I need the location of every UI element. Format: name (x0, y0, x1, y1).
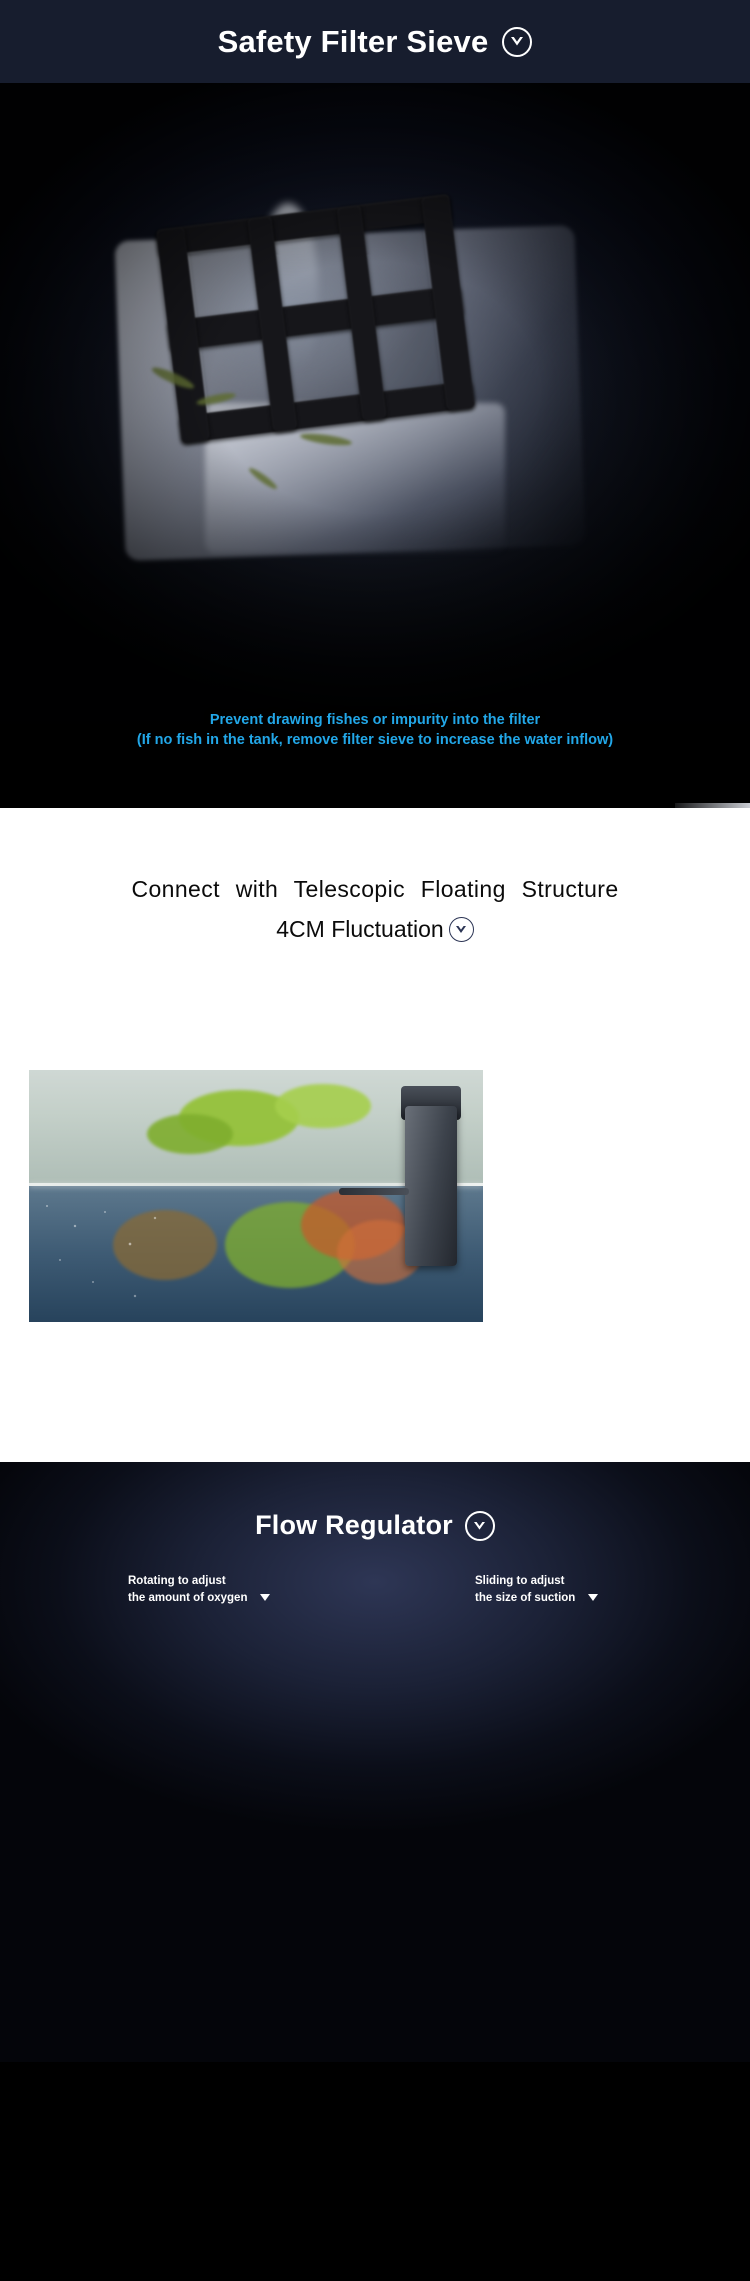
pump-intake-tube (339, 1188, 409, 1195)
annotation-oxygen-line-1: Rotating to adjust (128, 1573, 270, 1590)
sieve-caption: Prevent drawing fishes or impurity into … (0, 710, 750, 750)
section-telescopic-floating: Connect with Telescopic Floating Structu… (0, 808, 750, 1462)
annotation-oxygen-line-2: the amount of oxygen (128, 1592, 247, 1604)
flow-background-gradient (0, 1462, 750, 2062)
section-safety-filter-sieve: Safety Filter Sieve Prevent d (0, 0, 750, 808)
telescopic-heading-line-1: Connect with Telescopic Floating Structu… (0, 871, 750, 908)
sieve-title: Safety Filter Sieve (218, 26, 489, 57)
telescopic-heading-line-2-row: 4CM Fluctuation (0, 911, 750, 948)
telescopic-heading: Connect with Telescopic Floating Structu… (0, 808, 750, 948)
annotation-suction-line-1: Sliding to adjust (475, 1573, 598, 1590)
sieve-product-photo: Prevent drawing fishes or impurity into … (0, 83, 750, 808)
flow-title: Flow Regulator (255, 1510, 453, 1541)
product-detail-page: Safety Filter Sieve Prevent d (0, 0, 750, 2281)
telescopic-aquarium-photo (29, 1070, 483, 1322)
sieve-caption-line-2: (If no fish in the tank, remove filter s… (0, 730, 750, 750)
chevron-down-circle-icon (502, 27, 532, 57)
pump-housing (405, 1106, 457, 1266)
telescopic-heading-line-2: 4CM Fluctuation (276, 911, 443, 948)
annotation-oxygen-line-2-row: the amount of oxygen (128, 1590, 270, 1607)
annotation-oxygen: Rotating to adjust the amount of oxygen (128, 1573, 270, 1606)
annotation-suction-line-2: the size of suction (475, 1592, 575, 1604)
flow-header: Flow Regulator (0, 1462, 750, 1541)
photo-vignette (0, 83, 750, 808)
annotation-suction: Sliding to adjust the size of suction (475, 1573, 598, 1606)
chevron-down-circle-icon (465, 1511, 495, 1541)
sieve-caption-line-1: Prevent drawing fishes or impurity into … (0, 710, 750, 730)
triangle-down-icon (260, 1594, 270, 1601)
flow-annotation-row: Rotating to adjust the amount of oxygen … (0, 1573, 750, 1625)
section-flow-regulator: Flow Regulator Rotating to adjust the am… (0, 1462, 750, 2281)
annotation-suction-line-2-row: the size of suction (475, 1590, 598, 1607)
chevron-down-circle-icon (449, 917, 474, 942)
bubble-stream (35, 1196, 185, 1317)
triangle-down-icon (588, 1594, 598, 1601)
sieve-header: Safety Filter Sieve (0, 0, 750, 83)
